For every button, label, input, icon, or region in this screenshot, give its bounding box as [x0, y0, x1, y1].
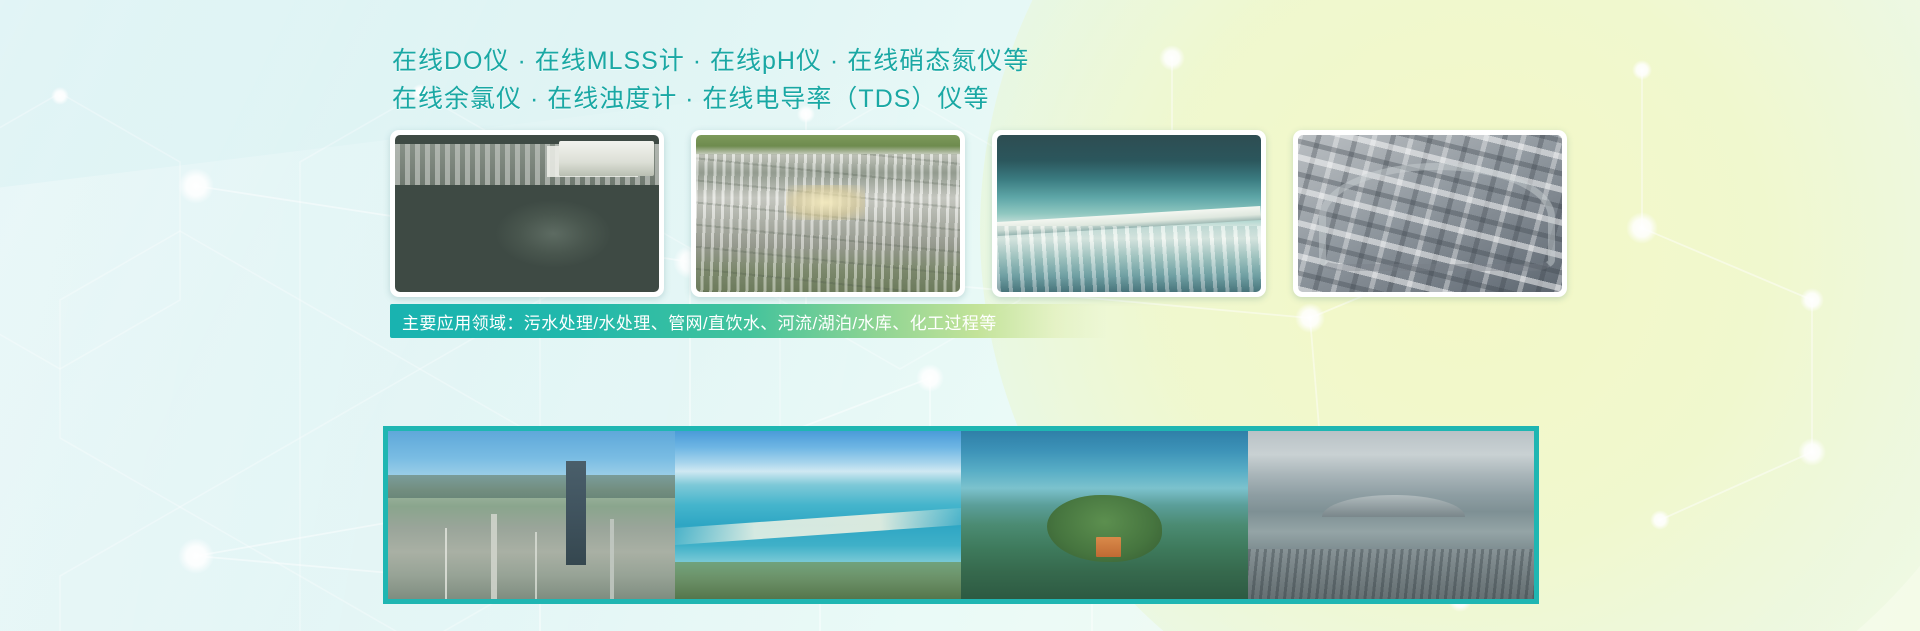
product-list-headline: 在线DO仪 · 在线MLSS计 · 在线pH仪 · 在线硝态氮仪等 在线余氯仪 … [392, 42, 1029, 118]
thumbnail-industrial-piping[interactable] [1293, 130, 1567, 297]
thumbnail-row [390, 130, 1567, 297]
filmstrip-photo-city-skyline[interactable] [388, 431, 675, 599]
banner-content: 在线DO仪 · 在线MLSS计 · 在线pH仪 · 在线硝态氮仪等 在线余氯仪 … [0, 0, 1920, 631]
photo-water-weir-overflow [997, 135, 1261, 292]
headline-line-1: 在线DO仪 · 在线MLSS计 · 在线pH仪 · 在线硝态氮仪等 [392, 42, 1029, 80]
headline-line-2: 在线余氯仪 · 在线浊度计 · 在线电导率（TDS）仪等 [392, 80, 1029, 118]
scenery-filmstrip [383, 426, 1539, 604]
filmstrip-photo-coastal-bay[interactable] [675, 431, 962, 599]
application-fields-bar: 主要应用领域：污水处理/水处理、管网/直饮水、河流/湖泊/水库、化工过程等 [390, 304, 1106, 338]
thumbnail-aeration-basin[interactable] [691, 130, 965, 297]
thumbnail-wastewater-treatment-plant-aerial[interactable] [390, 130, 664, 297]
filmstrip-photo-island-lagoon[interactable] [961, 431, 1248, 599]
photo-industrial-piping [1298, 135, 1562, 292]
filmstrip-photo-rocky-shoreline[interactable] [1248, 431, 1535, 599]
photo-aeration-basin [696, 135, 960, 292]
banner-stage: 在线DO仪 · 在线MLSS计 · 在线pH仪 · 在线硝态氮仪等 在线余氯仪 … [0, 0, 1920, 631]
application-fields-text: 主要应用领域：污水处理/水处理、管网/直饮水、河流/湖泊/水库、化工过程等 [390, 309, 997, 334]
thumbnail-water-weir-overflow[interactable] [992, 130, 1266, 297]
photo-wastewater-treatment-plant-aerial [395, 135, 659, 292]
